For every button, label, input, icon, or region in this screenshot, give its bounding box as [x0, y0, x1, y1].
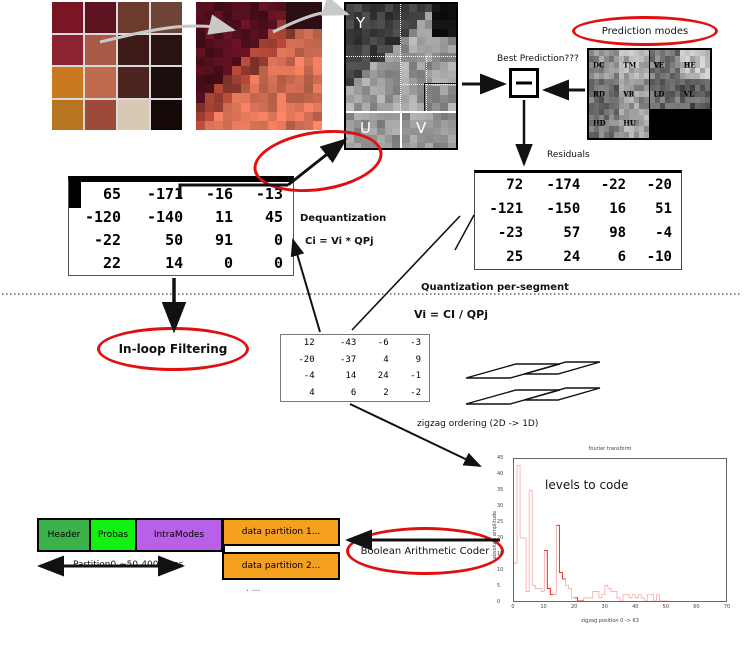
- zigzag-glyph: [466, 362, 600, 404]
- connector-overlay: [0, 0, 744, 656]
